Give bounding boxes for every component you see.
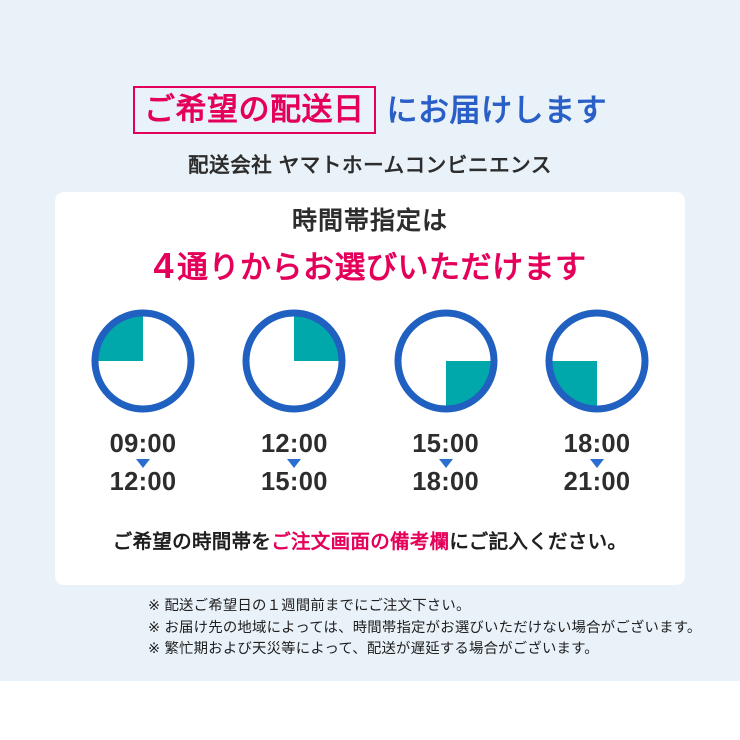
- time-slot-card: 時間帯指定は 4通りからお選びいただけます 09:00 12:00: [55, 192, 685, 585]
- footnote-item: ※ 配送ご希望日の１週間前までにご注文下さい。: [148, 596, 708, 618]
- header: ご希望の配送日 にお届けします 配送会社 ヤマトホームコンビニエンス: [0, 86, 740, 178]
- triangle-down-icon: [590, 459, 604, 468]
- time-slot-option-4[interactable]: 18:00 21:00: [527, 305, 667, 495]
- time-range-2: 12:00 15:00: [224, 431, 364, 495]
- time-range-3: 15:00 18:00: [376, 431, 516, 495]
- clock-quarter-upper-left-icon: [87, 305, 199, 417]
- card-title-line2: 4通りからお選びいただけます: [55, 246, 685, 286]
- time-start-4: 18:00: [527, 431, 667, 457]
- footnote-item: ※ お届け先の地域によっては、時間帯指定がお選びいただけない場合がございます。: [148, 618, 708, 640]
- time-slot-list: 09:00 12:00 12:00 15:00: [55, 305, 685, 495]
- header-headline: ご希望の配送日 にお届けします: [0, 86, 740, 134]
- instruction-note-suffix: にご記入ください。: [449, 531, 627, 553]
- footnote-list: ※ 配送ご希望日の１週間前までにご注文下さい。 ※ お届け先の地域によっては、時…: [148, 596, 708, 661]
- header-boxed-label: ご希望の配送日: [133, 86, 376, 134]
- clock-quarter-lower-left-icon: [541, 305, 653, 417]
- triangle-down-icon: [439, 459, 453, 468]
- card-title-line2-text: 通りからお選びいただけます: [177, 250, 587, 285]
- time-end-1: 12:00: [73, 469, 213, 495]
- carrier-name: 配送会社 ヤマトホームコンビニエンス: [0, 148, 740, 178]
- header-headline-rest: にお届けします: [387, 95, 608, 126]
- card-title: 時間帯指定は 4通りからお選びいただけます: [55, 209, 685, 286]
- time-slot-option-3[interactable]: 15:00 18:00: [376, 305, 516, 495]
- time-range-1: 09:00 12:00: [73, 431, 213, 495]
- time-end-3: 18:00: [376, 469, 516, 495]
- delivery-time-slot-banner: ご希望の配送日 にお届けします 配送会社 ヤマトホームコンビニエンス 時間帯指定…: [0, 0, 740, 740]
- instruction-note-prefix: ご希望の時間帯を: [113, 531, 271, 553]
- time-start-2: 12:00: [224, 431, 364, 457]
- card-title-number: 4: [153, 245, 174, 286]
- clock-quarter-lower-right-icon: [390, 305, 502, 417]
- footnote-item: ※ 繁忙期および天災等によって、配送が遅延する場合がございます。: [148, 639, 708, 661]
- time-slot-option-1[interactable]: 09:00 12:00: [73, 305, 213, 495]
- triangle-down-icon: [136, 459, 150, 468]
- time-start-3: 15:00: [376, 431, 516, 457]
- card-title-line1: 時間帯指定は: [55, 209, 685, 234]
- clock-quarter-upper-right-icon: [238, 305, 350, 417]
- time-range-4: 18:00 21:00: [527, 431, 667, 495]
- time-end-4: 21:00: [527, 469, 667, 495]
- time-slot-option-2[interactable]: 12:00 15:00: [224, 305, 364, 495]
- instruction-note-highlight: ご注文画面の備考欄: [271, 531, 449, 553]
- time-end-2: 15:00: [224, 469, 364, 495]
- instruction-note: ご希望の時間帯をご注文画面の備考欄にご記入ください。: [55, 525, 685, 554]
- triangle-down-icon: [287, 459, 301, 468]
- time-start-1: 09:00: [73, 431, 213, 457]
